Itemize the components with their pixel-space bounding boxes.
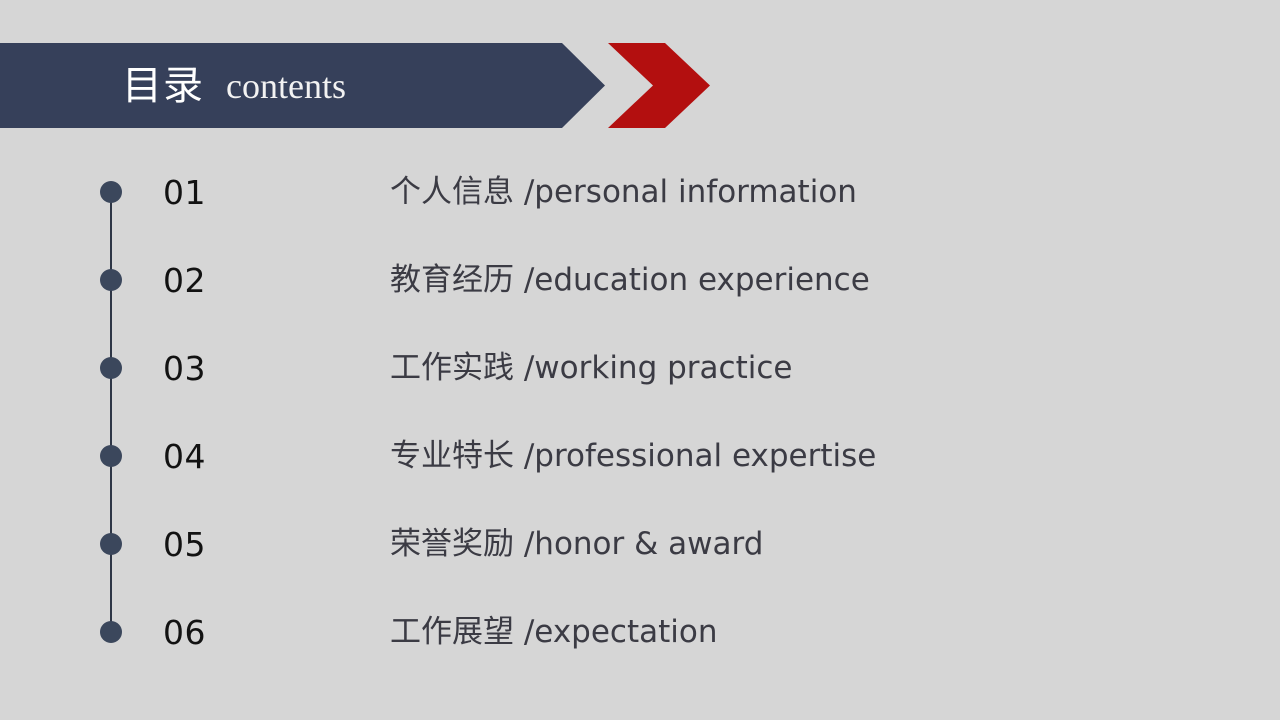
list-item-number: 03: [163, 352, 206, 385]
bullet-icon: [100, 357, 122, 379]
list-item[interactable]: 02 教育经历 /education experience: [0, 236, 1280, 324]
list-item-title: 荣誉奖励 /honor & award: [390, 527, 763, 561]
list-item-number: 04: [163, 440, 206, 473]
header-banner: [0, 43, 720, 128]
list-item-number: 02: [163, 264, 206, 297]
list-item-title: 教育经历 /education experience: [390, 263, 870, 297]
list-item-number: 01: [163, 176, 206, 209]
list-item-number: 06: [163, 616, 206, 649]
red-chevron-icon: [608, 43, 710, 128]
list-item[interactable]: 05 荣誉奖励 /honor & award: [0, 500, 1280, 588]
list-item[interactable]: 04 专业特长 /professional expertise: [0, 412, 1280, 500]
list-item-title: 工作实践 /working practice: [390, 351, 792, 385]
contents-list: 01 个人信息 /personal information 02 教育经历 /e…: [0, 148, 1280, 676]
bullet-icon: [100, 181, 122, 203]
list-item[interactable]: 03 工作实践 /working practice: [0, 324, 1280, 412]
list-item-title: 专业特长 /professional expertise: [390, 439, 876, 473]
bullet-icon: [100, 621, 122, 643]
list-item-title: 个人信息 /personal information: [390, 175, 857, 209]
bullet-icon: [100, 533, 122, 555]
list-item-number: 05: [163, 528, 206, 561]
bullet-icon: [100, 445, 122, 467]
navy-arrow-banner-shape: [0, 43, 605, 128]
list-item[interactable]: 06 工作展望 /expectation: [0, 588, 1280, 676]
list-item[interactable]: 01 个人信息 /personal information: [0, 148, 1280, 236]
list-item-title: 工作展望 /expectation: [390, 615, 718, 649]
bullet-icon: [100, 269, 122, 291]
